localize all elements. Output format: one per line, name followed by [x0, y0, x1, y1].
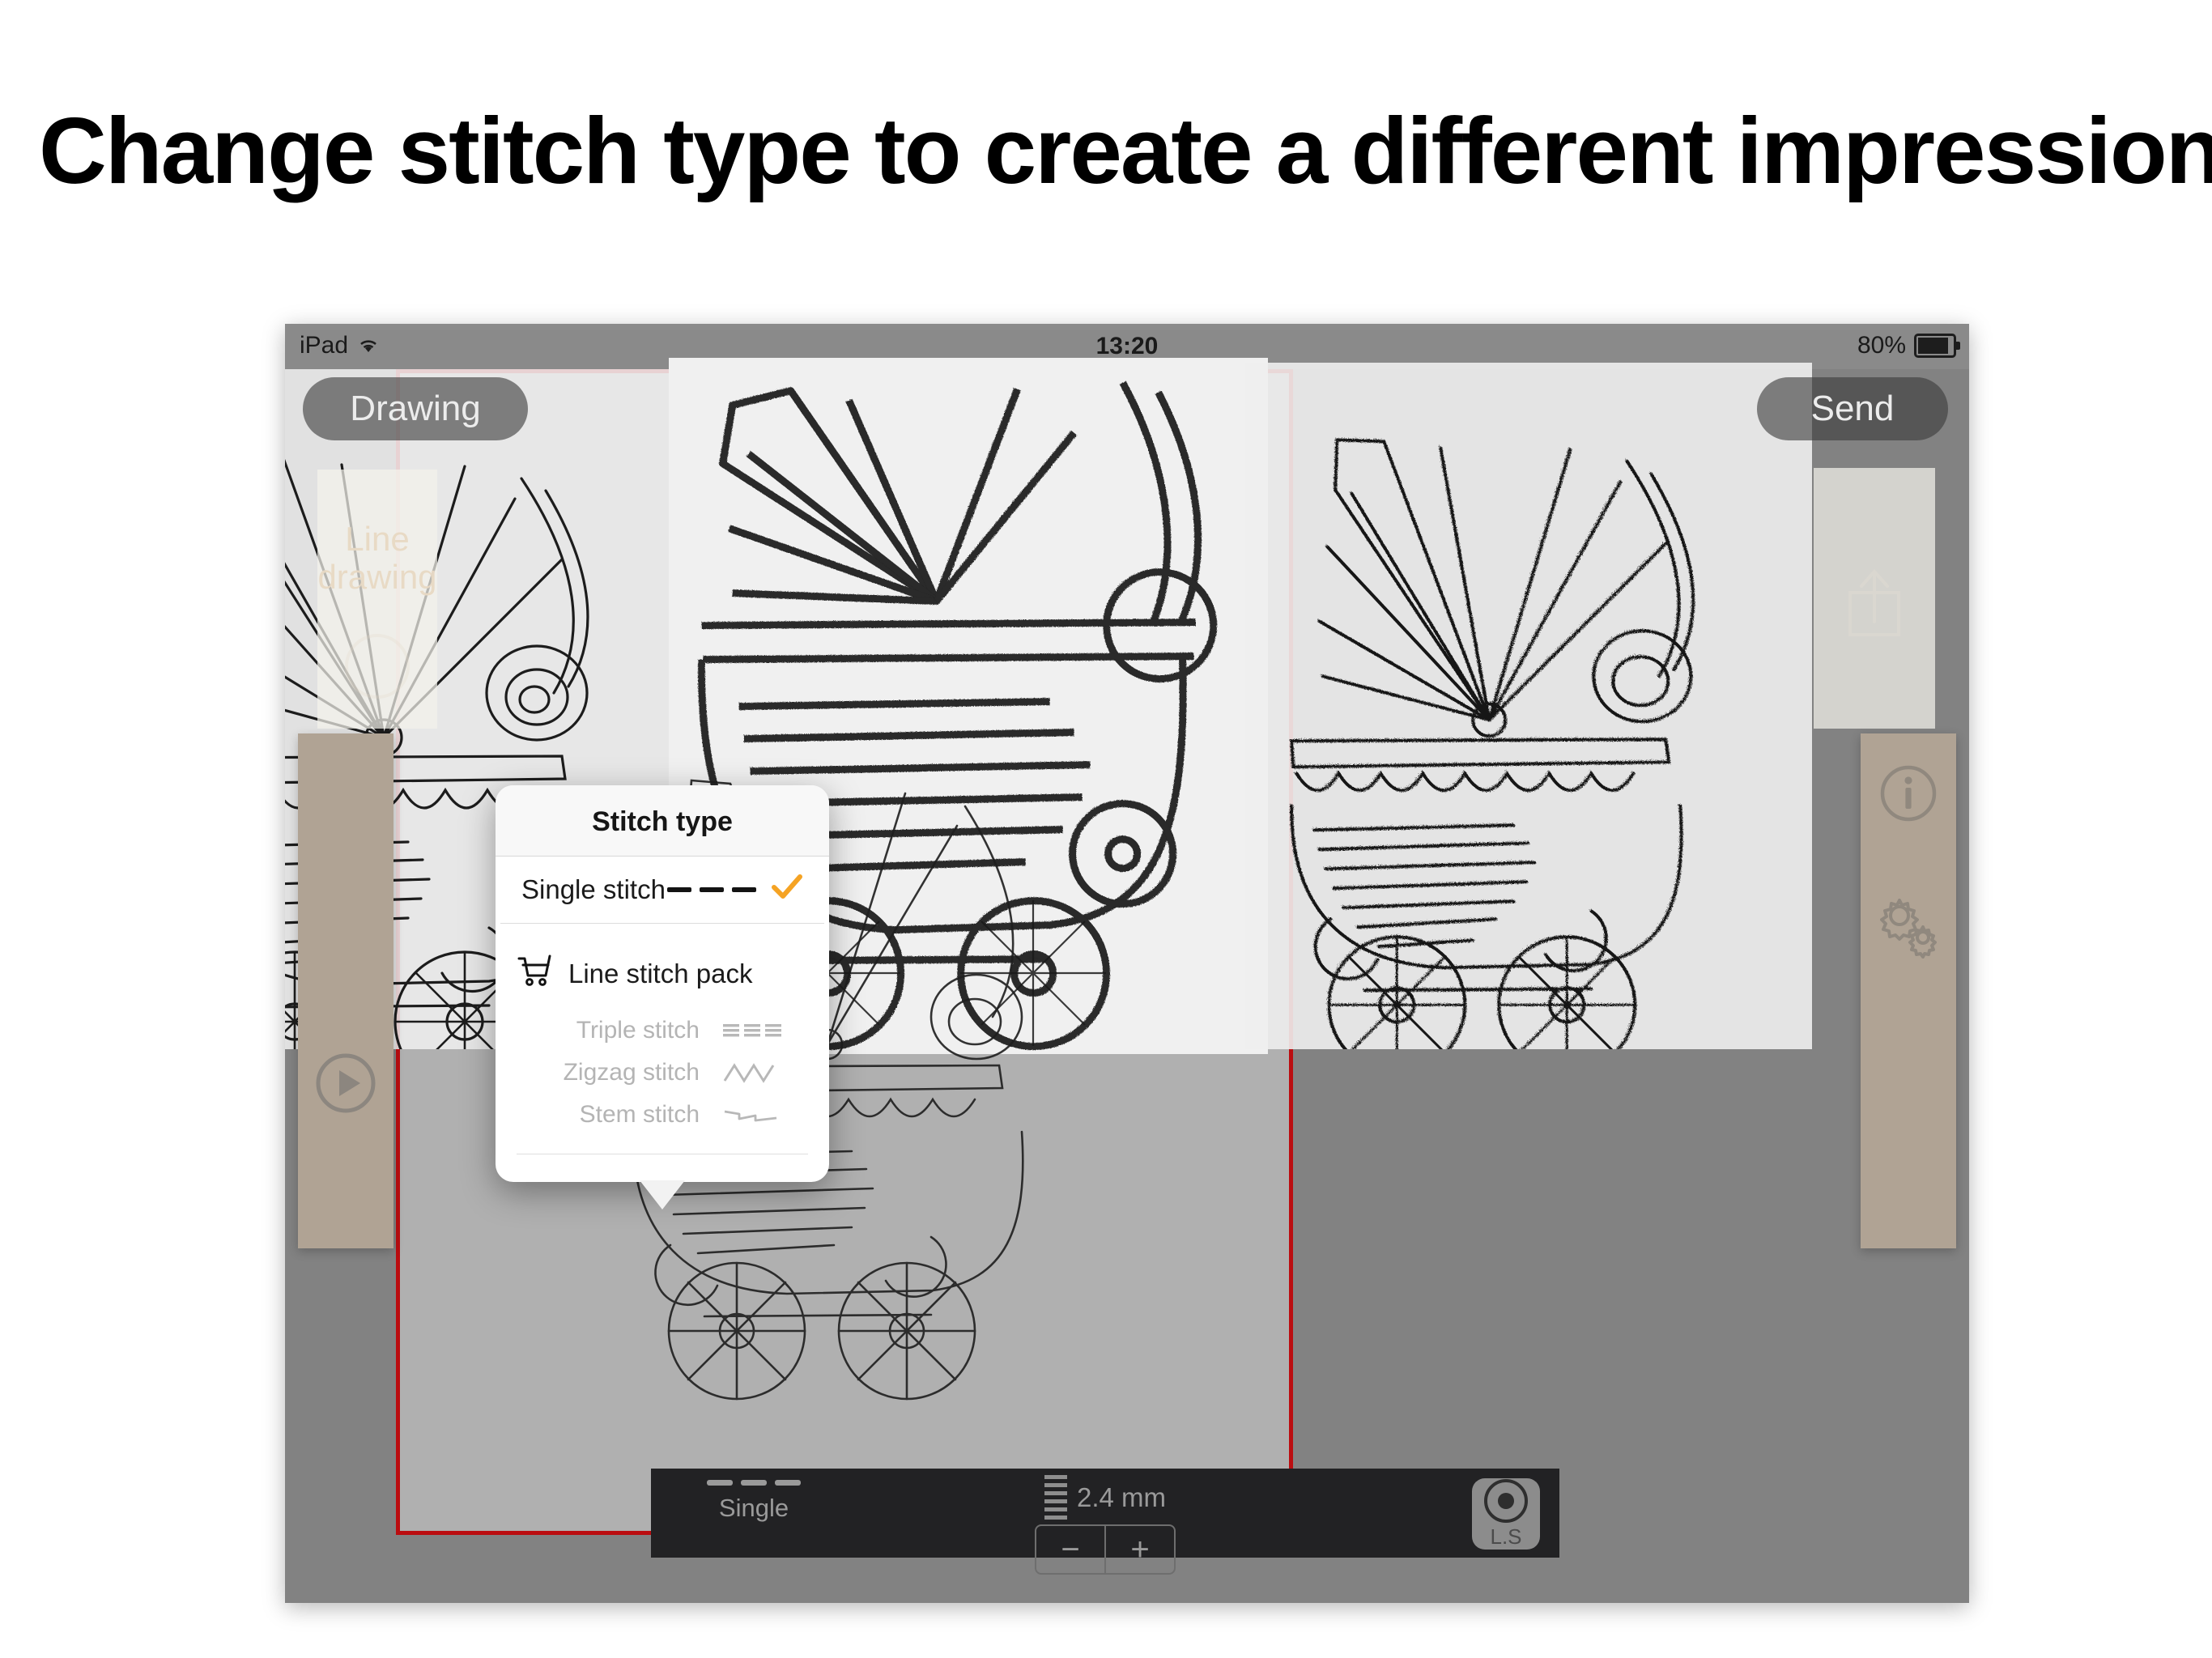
- status-bar-right: 80%: [1857, 332, 1956, 359]
- stitch-type-popover: Stitch type Single stitch: [496, 785, 829, 1182]
- density-increase-button[interactable]: +: [1106, 1526, 1174, 1573]
- density-stepper: − +: [1035, 1524, 1176, 1575]
- send-button-label: Send: [1811, 389, 1895, 429]
- artwork-stem-stitch: [1245, 363, 1812, 1049]
- line-drawing-panel[interactable]: Line drawing: [317, 470, 437, 729]
- drawing-button-label: Drawing: [350, 389, 480, 429]
- zigzag-stitch-label: Zigzag stitch: [564, 1059, 700, 1086]
- share-export-icon: [1837, 562, 1912, 643]
- stitch-density-control: 2.4 mm − +: [1035, 1475, 1176, 1575]
- zigzag-icon: [717, 1062, 787, 1083]
- stitch-density-icon: [1044, 1475, 1067, 1520]
- line-stitch-pack-label: Line stitch pack: [568, 959, 752, 989]
- drawing-button[interactable]: Drawing: [303, 377, 528, 440]
- send-panel[interactable]: [1814, 468, 1935, 729]
- stitch-option-zigzag[interactable]: Zigzag stitch: [496, 1052, 829, 1094]
- stitch-type-button[interactable]: Single: [693, 1480, 815, 1523]
- target-dot-icon: [1484, 1479, 1528, 1523]
- single-stitch-label: Single stitch: [521, 874, 666, 905]
- triple-dash-icon: [717, 1022, 787, 1039]
- info-icon[interactable]: [1861, 763, 1956, 824]
- density-decrease-button[interactable]: −: [1036, 1526, 1106, 1573]
- popover-divider: [517, 1154, 808, 1182]
- shopping-cart-icon: [517, 954, 554, 994]
- play-icon[interactable]: [298, 1051, 393, 1116]
- page-title: Change stitch type to create a different…: [39, 104, 2184, 198]
- line-stitch-pack-row[interactable]: Line stitch pack: [496, 924, 829, 1010]
- popover-title: Stitch type: [496, 785, 829, 857]
- right-tool-panel: [1861, 733, 1956, 1248]
- circle-placeholder-icon: [342, 631, 412, 701]
- popover-arrow: [640, 1180, 685, 1209]
- checkmark-icon: [759, 872, 803, 908]
- stitch-density-value: 2.4 mm: [1077, 1482, 1166, 1513]
- line-drawing-label: Line drawing: [317, 520, 437, 596]
- status-bar-time: 13:20: [285, 333, 1969, 360]
- stitch-type-value: Single: [693, 1494, 815, 1523]
- battery-percent: 80%: [1857, 332, 1906, 359]
- triple-stitch-label: Triple stitch: [576, 1017, 700, 1044]
- stem-stitch-label: Stem stitch: [580, 1101, 700, 1129]
- ipad-screen: iPad 13:20 80%: [285, 324, 1969, 1603]
- send-button[interactable]: Send: [1757, 377, 1948, 440]
- ls-button-label: L.S: [1490, 1524, 1521, 1550]
- ls-button[interactable]: L.S: [1472, 1478, 1540, 1550]
- battery-icon: [1914, 334, 1956, 358]
- bottom-toolbar: Single 2.4 mm − + L.S: [651, 1469, 1559, 1558]
- settings-gears-icon[interactable]: [1861, 889, 1956, 959]
- stitch-option-triple[interactable]: Triple stitch: [496, 1010, 829, 1052]
- stitch-option-stem[interactable]: Stem stitch: [496, 1094, 829, 1136]
- dashed-line-icon: [693, 1480, 815, 1486]
- stitch-option-single[interactable]: Single stitch: [500, 857, 824, 924]
- single-dash-line-icon: [666, 884, 759, 895]
- stem-stitch-icon: [717, 1106, 787, 1124]
- left-tool-panel: [298, 733, 393, 1248]
